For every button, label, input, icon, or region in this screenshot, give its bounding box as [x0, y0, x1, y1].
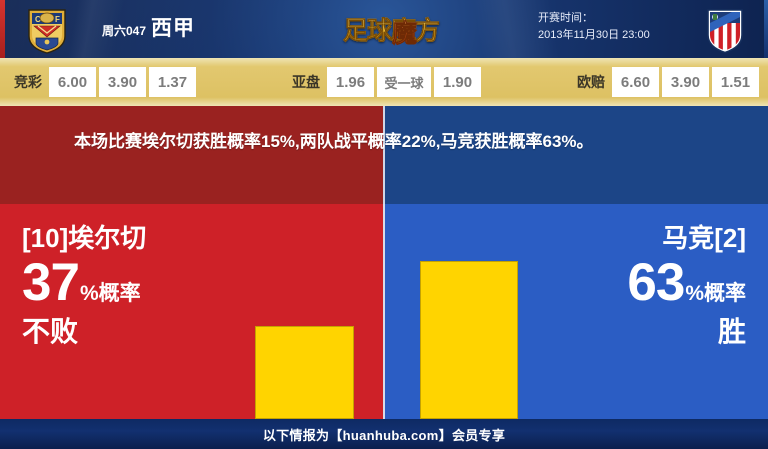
odds-cell-away[interactable]: 1.90	[434, 67, 481, 97]
home-percent-row: 37 %概率	[22, 256, 146, 309]
away-team-stats: 马竞[2] 63 %概率 胜	[627, 222, 746, 349]
odds-group-jingcai: 竞彩 6.00 3.90 1.37	[14, 67, 196, 97]
odds-group-title: 欧赔	[577, 72, 605, 92]
football-prediction-infographic: C F 周六047 西甲 足球魔方 魔 开赛时间： 2013年11月30日 23…	[0, 0, 768, 449]
odds-group-title: 竞彩	[14, 72, 42, 92]
home-team-name: [10]埃尔切	[22, 222, 146, 254]
membership-footer: 以下情报为【huanhuba.com】会员专享	[0, 419, 768, 449]
away-percent-suffix: %概率	[685, 283, 746, 304]
atletico-madrid-crest	[702, 6, 748, 54]
away-percent-value: 63	[627, 256, 684, 309]
odds-cell-draw[interactable]: 3.90	[99, 67, 146, 97]
home-percent-value: 37	[22, 256, 79, 309]
kickoff-value: 2013年11月30日 23:00	[538, 27, 650, 44]
home-team-stats: [10]埃尔切 37 %概率 不败	[22, 222, 146, 349]
odds-group-european-odds: 欧赔 6.60 3.90 1.51	[577, 67, 759, 97]
header-left-accent-bar	[0, 0, 5, 58]
kickoff-label: 开赛时间：	[538, 10, 650, 27]
panel-divider	[383, 204, 385, 419]
elche-cf-crest: C F	[24, 6, 70, 54]
odds-cell-draw[interactable]: 3.90	[662, 67, 709, 97]
banner-summary-text: 本场比赛埃尔切获胜概率15%,两队战平概率22%,马竞获胜概率63%。	[74, 128, 714, 156]
match-header: C F 周六047 西甲 足球魔方 魔 开赛时间： 2013年11月30日 23…	[0, 0, 768, 58]
match-league-label: 西甲	[151, 12, 195, 42]
away-percent-row: 63 %概率	[627, 256, 746, 309]
kickoff-time-block: 开赛时间： 2013年11月30日 23:00	[538, 10, 650, 44]
home-outcome-label: 不败	[22, 315, 146, 349]
site-logo[interactable]: 足球魔方 魔	[330, 8, 452, 50]
site-logo-accent-char: 魔	[392, 14, 417, 50]
odds-cell-away[interactable]: 1.51	[712, 67, 759, 97]
svg-text:F: F	[55, 15, 60, 24]
odds-group-asian-handicap: 亚盘 1.96 受一球 1.90	[292, 67, 481, 97]
home-probability-bar	[255, 326, 354, 419]
odds-bar: 竞彩 6.00 3.90 1.37 亚盘 1.96 受一球 1.90 欧赔 6.…	[0, 58, 768, 106]
footer-text: 以下情报为【huanhuba.com】会员专享	[263, 425, 505, 444]
probability-summary-banner: 本场比赛埃尔切获胜概率15%,两队战平概率22%,马竞获胜概率63%。	[0, 106, 768, 204]
away-team-name: 马竞[2]	[627, 222, 746, 254]
home-percent-suffix: %概率	[80, 283, 141, 304]
odds-cell-home[interactable]: 6.00	[49, 67, 96, 97]
odds-cell-handicap[interactable]: 受一球	[377, 67, 431, 97]
odds-cell-home[interactable]: 6.60	[612, 67, 659, 97]
match-round-label: 周六047	[102, 22, 146, 39]
away-probability-bar	[420, 261, 518, 419]
odds-group-title: 亚盘	[292, 72, 320, 92]
away-outcome-label: 胜	[627, 315, 746, 349]
header-right-accent-bar	[764, 0, 768, 58]
odds-cell-away[interactable]: 1.37	[149, 67, 196, 97]
site-logo-text: 足球魔方	[343, 11, 439, 47]
match-label: 周六047 西甲	[102, 12, 195, 46]
odds-cell-home[interactable]: 1.96	[327, 67, 374, 97]
probability-chart: [10]埃尔切 37 %概率 不败 马竞[2] 63 %概率 胜	[0, 204, 768, 419]
